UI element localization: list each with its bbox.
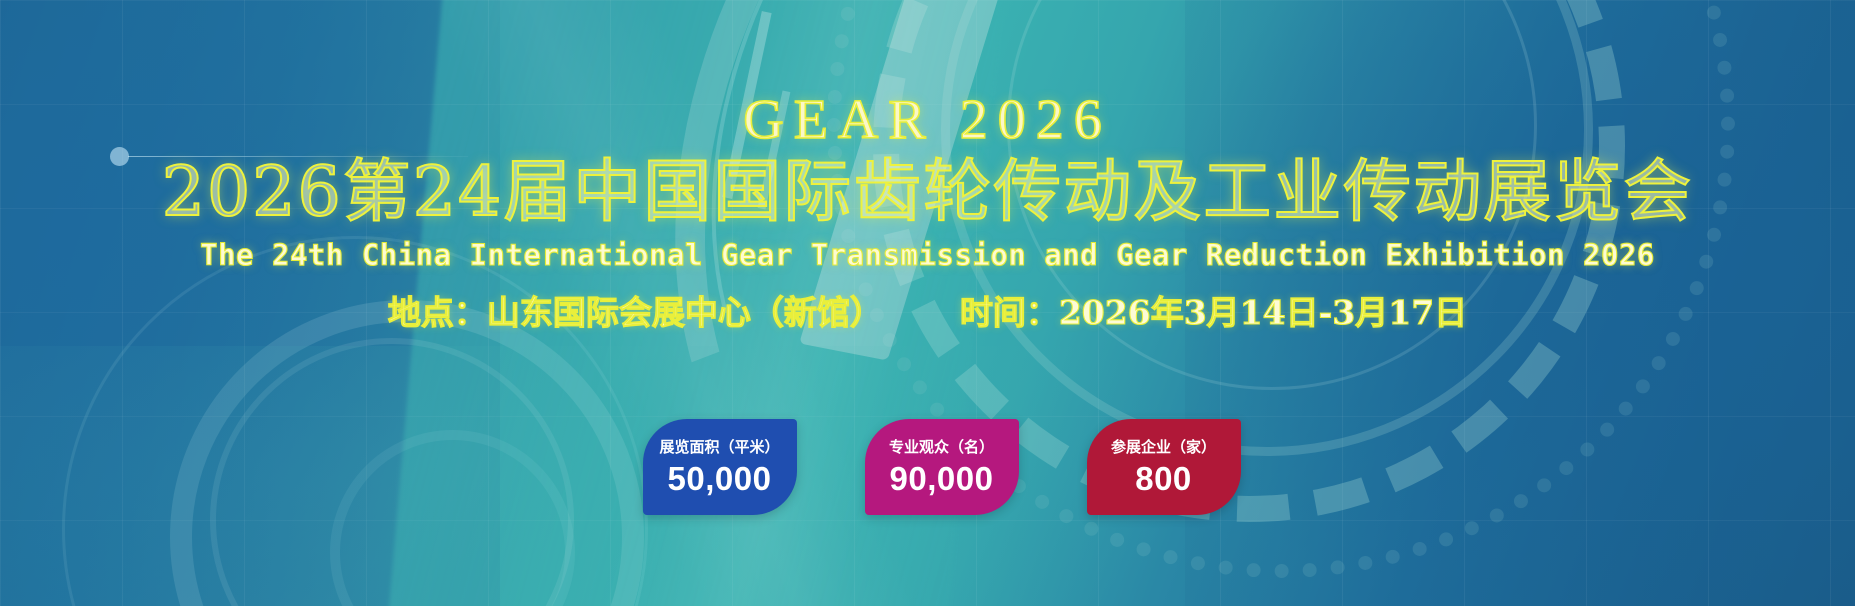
exhibition-banner: GEAR 2026 2026第24届中国国际齿轮传动及工业传动展览会 The 2… (0, 0, 1855, 606)
stat-label-exhibiting-companies: 参展企业（家） (1111, 440, 1216, 455)
stat-card-professional-visitors: 专业观众（名） 90,000 (865, 419, 1019, 515)
banner-content: GEAR 2026 2026第24届中国国际齿轮传动及工业传动展览会 The 2… (0, 0, 1855, 606)
banner-meta-line: 地点：山东国际会展中心（新馆） 时间：2026年3月14日-3月17日 (0, 286, 1855, 334)
stat-card-exhibition-area: 展览面积（平米） 50,000 (643, 419, 797, 515)
venue-label: 地点：山东国际会展中心（新馆） (388, 293, 883, 332)
stat-card-exhibiting-companies: 参展企业（家） 800 (1087, 419, 1241, 515)
banner-title-chinese: 2026第24届中国国际齿轮传动及工业传动展览会 (0, 158, 1855, 227)
stat-value-professional-visitors: 90,000 (890, 462, 994, 495)
banner-title-english-top: GEAR 2026 (0, 92, 1855, 148)
stat-label-exhibition-area: 展览面积（平米） (659, 440, 779, 455)
stats-row: 展览面积（平米） 50,000 专业观众（名） 90,000 参展企业（家） 8… (0, 419, 1855, 515)
stat-value-exhibition-area: 50,000 (668, 462, 772, 495)
date-label: 时间：2026年3月14日-3月17日 (960, 293, 1467, 332)
stat-label-professional-visitors: 专业观众（名） (889, 440, 994, 455)
banner-subtitle-english: The 24th China International Gear Transm… (0, 238, 1855, 272)
stat-value-exhibiting-companies: 800 (1135, 462, 1192, 495)
